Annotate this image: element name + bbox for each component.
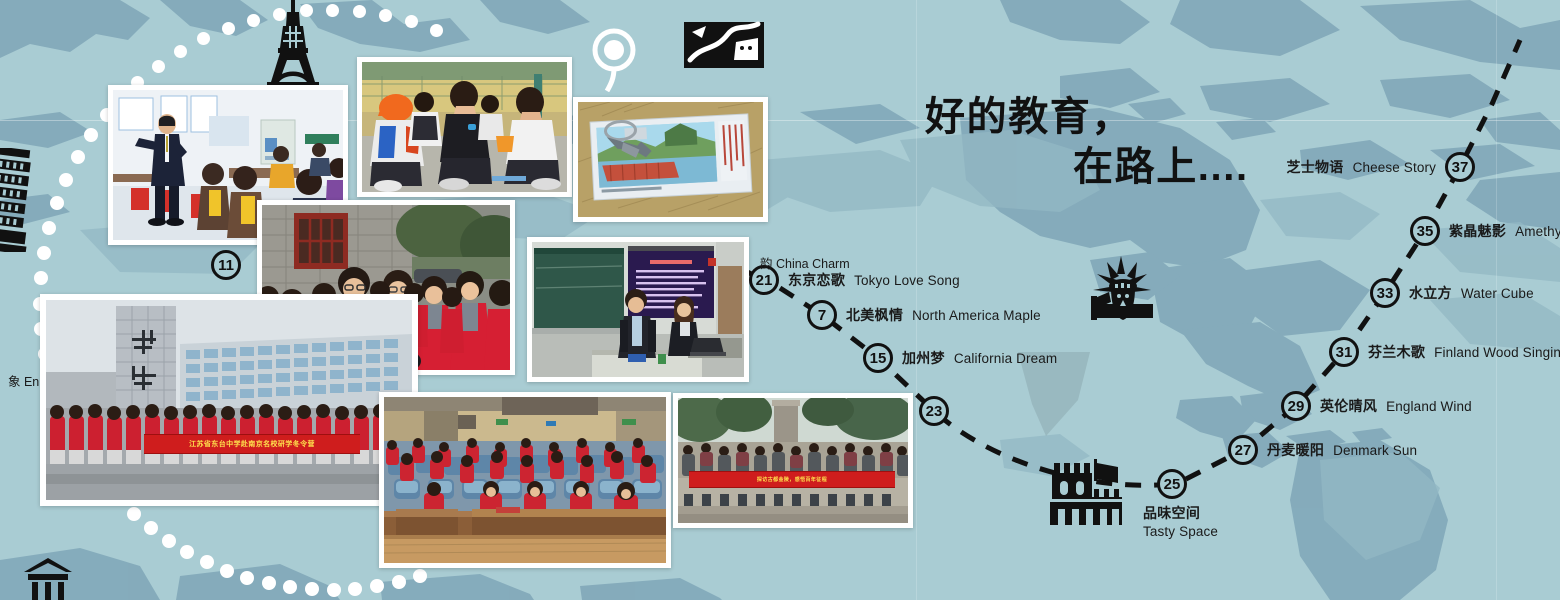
route-stop-labels: 水立方Water Cube (1409, 283, 1534, 303)
route-stop-labels: 紫晶魅影Amethyst Ch (1449, 221, 1560, 241)
path-dot (162, 534, 176, 548)
route-stop-name-cn: 加州梦 (902, 348, 945, 368)
route-stop-labels: 加州梦California Dream (902, 348, 1057, 368)
route-marker-number: 25 (1157, 469, 1187, 499)
photo-image (362, 62, 567, 192)
route-marker-number: 35 (1410, 216, 1440, 246)
photo-image (578, 102, 763, 217)
temple-icon (20, 558, 76, 600)
photo-image (46, 300, 412, 500)
route-stop-name-en: North America Maple (912, 308, 1041, 323)
eiffel-tower-icon (259, 0, 327, 92)
photo-lecture-projector (527, 237, 749, 382)
path-dot (71, 150, 85, 164)
route-stop-name-en: Cheese Story (1353, 160, 1436, 175)
route-stop-name-en: Tasty Space (1143, 524, 1218, 539)
route-stop-labels: 丹麦暖阳Denmark Sun (1267, 440, 1417, 460)
route-marker-number: 37 (1445, 152, 1475, 182)
path-dot (222, 22, 235, 35)
route-marker-number: 27 (1228, 435, 1258, 465)
route-stop-31[interactable]: 31芬兰木歌Finland Wood Singing (1329, 337, 1560, 367)
route-stop-35[interactable]: 35紫晶魅影Amethyst Ch (1410, 216, 1560, 246)
route-stop-name-cn: 芬兰木歌 (1368, 342, 1425, 362)
path-dot (413, 569, 427, 583)
route-stop-labels: 芬兰木歌Finland Wood Singing (1368, 342, 1560, 362)
route-stop-name-cn: 丹麦暖阳 (1267, 440, 1324, 460)
path-dot (50, 196, 64, 210)
photo-banner-text: 探访古都金陵，感悟百年征程 (689, 471, 895, 488)
statue-of-liberty-icon (1085, 246, 1161, 320)
route-stop-15[interactable]: 15加州梦California Dream (863, 343, 1057, 373)
route-stop-37[interactable]: 芝士物语Cheese Story37 (1286, 152, 1475, 182)
route-marker-number: 31 (1329, 337, 1359, 367)
photo-group-monument-banner: 探访古都金陵，感悟百年征程 (673, 393, 913, 528)
route-stop-name-en: England Wind (1386, 399, 1472, 414)
path-dot (327, 583, 341, 597)
partial-label-china-charm: 韵 China Charm (760, 253, 850, 272)
route-stop-name-en: California Dream (954, 351, 1057, 366)
route-marker-number: 29 (1281, 391, 1311, 421)
path-dot (34, 271, 48, 285)
route-stop-name-cn: 东京恋歌 (788, 270, 845, 290)
route-stop-23[interactable]: 23 (919, 396, 949, 426)
route-stop-name-cn: 英伦晴风 (1320, 396, 1377, 416)
title-line-2: 在路上.... (1073, 146, 1249, 188)
route-stop-name-en: Denmark Sun (1333, 443, 1417, 458)
balloon-loop-icon (589, 28, 647, 92)
page-title: 好的教育， 在路上.... (925, 96, 1249, 188)
partial-label-left-edge: 象 En (8, 371, 39, 390)
path-dot (144, 521, 158, 535)
route-stop-29[interactable]: 29英伦晴风England Wind (1281, 391, 1472, 421)
photo-postcard-keychain (573, 97, 768, 222)
route-stop-labels: 东京恋歌Tokyo Love Song (788, 270, 960, 290)
route-marker-number: 15 (863, 343, 893, 373)
leaning-tower-of-pisa-icon (0, 148, 34, 252)
route-stop-labels: 品味空间Tasty Space (1143, 503, 1218, 539)
route-stop-25[interactable]: 25品味空间Tasty Space (1157, 469, 1218, 539)
title-line-1: 好的教育， (925, 96, 1249, 138)
path-dot (353, 5, 366, 18)
route-stop-7[interactable]: 7北美枫情North America Maple (807, 300, 1041, 330)
mountain-landscape-icon (684, 16, 764, 70)
path-dot (59, 173, 73, 187)
path-dot (326, 4, 339, 17)
route-stop-name-cn: 品味空间 (1143, 503, 1200, 523)
route-marker-number: 33 (1370, 278, 1400, 308)
path-dot (42, 221, 56, 235)
route-stop-27[interactable]: 27丹麦暖阳Denmark Sun (1228, 435, 1417, 465)
route-stop-name-en: Amethyst Ch (1515, 224, 1560, 239)
route-stop-name-cn: 紫晶魅影 (1449, 221, 1506, 241)
photo-group-stairs-banner: 江苏省东台中学赴南京名校研学冬令营 (40, 294, 418, 506)
path-dot (200, 555, 214, 569)
route-stop-33[interactable]: 33水立方Water Cube (1370, 278, 1534, 308)
path-dot (220, 564, 234, 578)
route-stop-labels: 北美枫情North America Maple (846, 305, 1041, 325)
route-stop-labels: 英伦晴风England Wind (1320, 396, 1472, 416)
photo-image (384, 397, 666, 563)
path-dot (392, 575, 406, 589)
photo-outdoor-activity (357, 57, 572, 197)
route-stop-name-cn: 芝士物语 (1286, 157, 1343, 177)
path-dot (127, 507, 141, 521)
route-stop-labels: 芝士物语Cheese Story (1286, 157, 1436, 177)
photo-image (678, 398, 908, 523)
route-marker-number: 23 (919, 396, 949, 426)
castle-icon (1048, 455, 1128, 535)
route-stop-name-cn: 北美枫情 (846, 305, 903, 325)
photo-auditorium (379, 392, 671, 568)
path-dot (174, 45, 187, 58)
route-stop-name-en: Finland Wood Singing (1434, 345, 1560, 360)
path-dot (152, 60, 165, 73)
photo-image (532, 242, 744, 377)
route-stop-name-cn: 水立方 (1409, 283, 1452, 303)
route-marker-number: 7 (807, 300, 837, 330)
path-dot (37, 246, 51, 260)
path-dot (262, 576, 276, 590)
route-stop-11[interactable]: 11 (211, 250, 241, 280)
photo-banner-text: 江苏省东台中学赴南京名校研学冬令营 (144, 434, 360, 454)
route-marker-number: 11 (211, 250, 241, 280)
route-stop-name-en: Tokyo Love Song (854, 273, 960, 288)
route-stop-name-en: Water Cube (1461, 286, 1534, 301)
